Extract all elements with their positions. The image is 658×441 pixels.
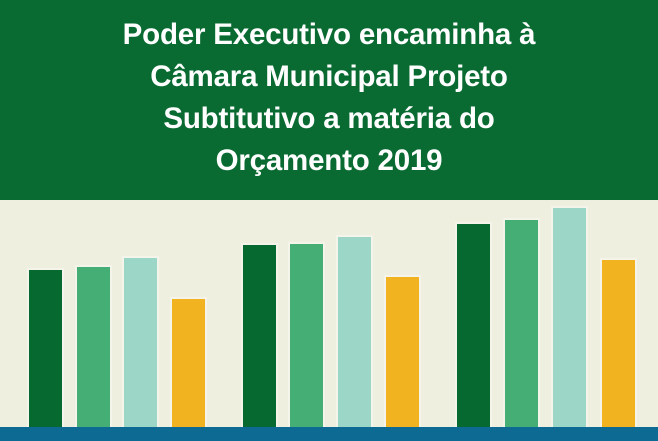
chart-bar <box>600 258 637 427</box>
chart-bar <box>241 243 278 427</box>
chart-bar <box>75 265 112 427</box>
chart-bar <box>336 235 373 427</box>
bar-chart <box>0 200 658 427</box>
chart-bar <box>503 218 540 427</box>
chart-bars-layer <box>0 200 658 427</box>
page-title: Poder Executivo encaminha à Câmara Munic… <box>28 14 630 182</box>
header-banner: Poder Executivo encaminha à Câmara Munic… <box>0 0 658 200</box>
chart-bar <box>170 297 207 427</box>
footer-accent-band <box>0 427 658 441</box>
chart-bar <box>27 268 64 427</box>
chart-bar <box>384 275 421 427</box>
page-root: Poder Executivo encaminha à Câmara Munic… <box>0 0 658 441</box>
chart-bar <box>551 206 588 427</box>
chart-bar <box>122 256 159 427</box>
chart-bar <box>288 242 325 427</box>
chart-bar <box>455 222 492 427</box>
